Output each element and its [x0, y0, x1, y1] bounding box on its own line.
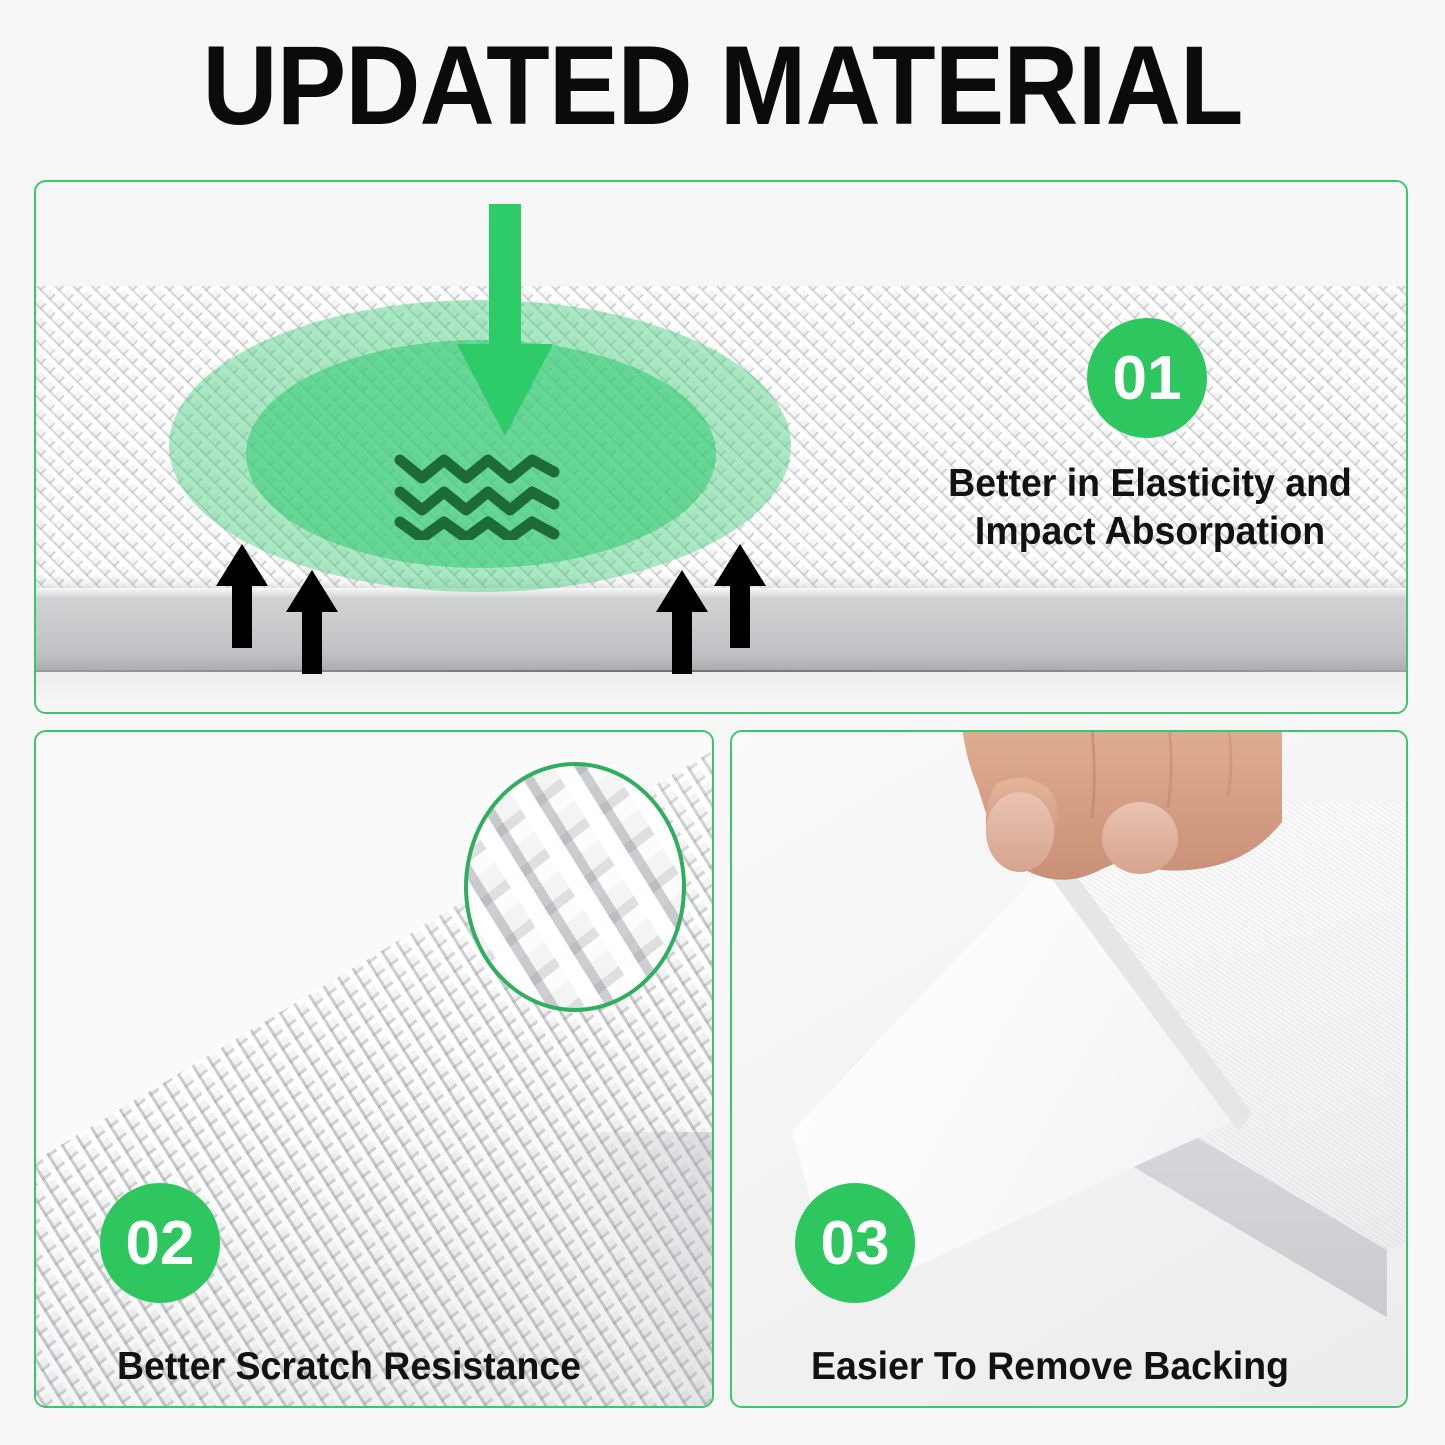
magnifier-circle-icon [464, 762, 686, 1012]
page-title: UPDATED MATERIAL [51, 28, 1395, 144]
badge-number: 03 [821, 1208, 890, 1279]
up-arrow-icon [656, 570, 708, 674]
feature-caption-03: Easier To Remove Backing [743, 1343, 1357, 1391]
feature-panel-03 [730, 730, 1408, 1408]
caption-line: Easier To Remove Backing [743, 1343, 1357, 1391]
feature-badge-02: 02 [100, 1183, 220, 1303]
wave-icon [392, 444, 572, 540]
feature-badge-03: 03 [795, 1183, 915, 1303]
badge-number: 02 [126, 1208, 195, 1279]
caption-line: Impact Absorpation [910, 508, 1390, 556]
hand-peeling-backing-icon [892, 730, 1282, 932]
feature-panel-01 [34, 180, 1408, 714]
feature-badge-01: 01 [1087, 318, 1207, 438]
panel-floor [36, 672, 1406, 714]
down-arrow-icon [440, 204, 570, 436]
feature-caption-02: Better Scratch Resistance [47, 1343, 652, 1391]
up-arrow-icon [216, 544, 268, 648]
feature-caption-01: Better in Elasticity and Impact Absorpat… [910, 460, 1390, 555]
up-arrow-icon [714, 544, 766, 648]
caption-line: Better in Elasticity and [910, 460, 1390, 508]
caption-line: Better Scratch Resistance [47, 1343, 652, 1391]
badge-number: 01 [1113, 343, 1182, 414]
up-arrow-icon [286, 570, 338, 674]
feature-panel-02 [34, 730, 714, 1408]
